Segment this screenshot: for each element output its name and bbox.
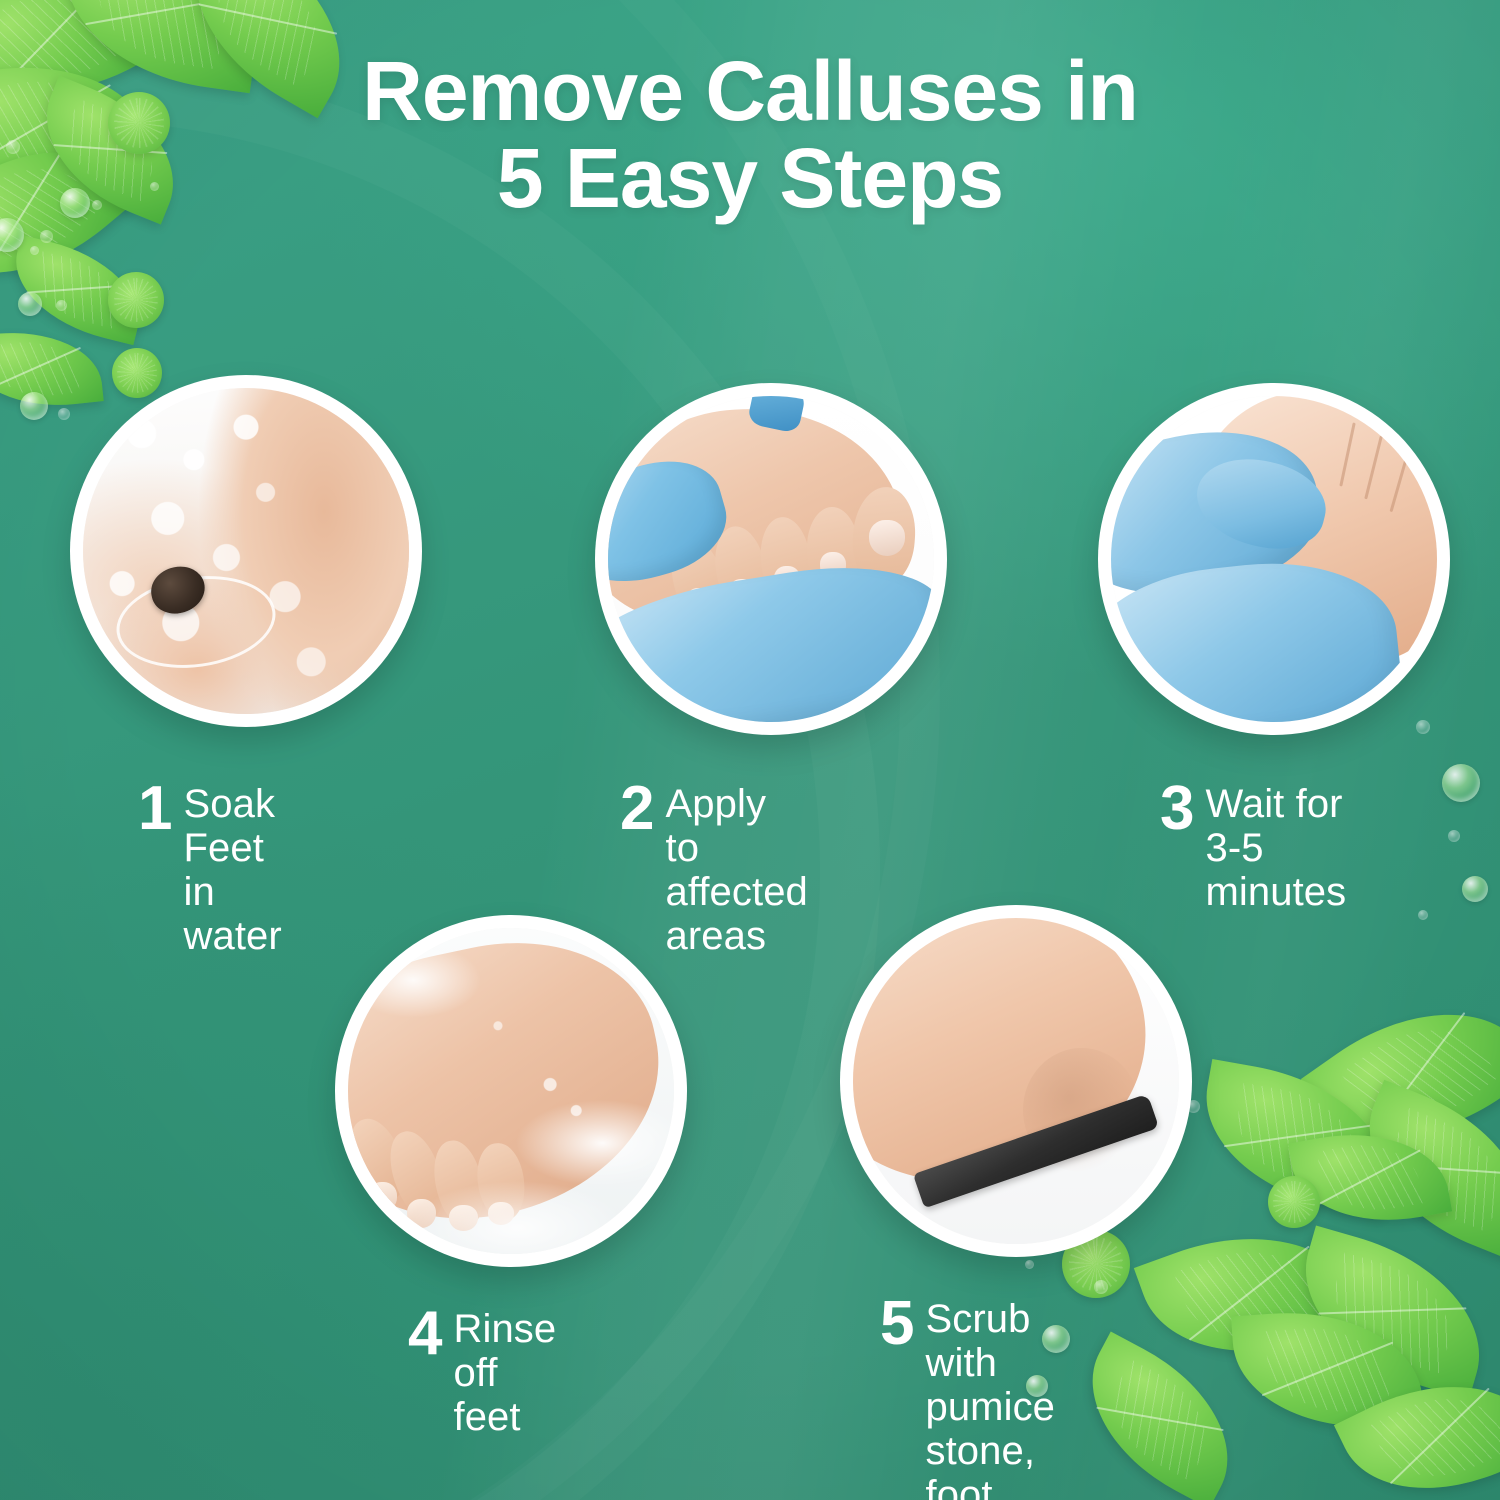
step-4-number: 4 — [408, 1305, 441, 1362]
step-3-photo — [1111, 396, 1437, 722]
step-1-label: Soak Feet in water — [183, 780, 281, 958]
page-title: Remove Calluses in 5 Easy Steps — [0, 48, 1500, 221]
step-4-label: Rinse off feet — [453, 1305, 556, 1439]
page-title-line-1: Remove Calluses in — [362, 44, 1138, 138]
steps-container: 1 Soak Feet in water — [0, 0, 1500, 1500]
step-1-image — [70, 375, 422, 727]
step-2-image — [595, 383, 947, 735]
step-1-photo — [83, 388, 409, 714]
step-4-image — [335, 915, 687, 1267]
step-4-caption: 4 Rinse off feet — [408, 1305, 556, 1439]
step-2-label: Apply to affected areas — [665, 780, 807, 958]
page-title-line-2: 5 Easy Steps — [0, 135, 1500, 222]
step-2-photo — [608, 396, 934, 722]
step-5-caption: 5 Scrub with pumice stone, foot file, or… — [880, 1295, 1055, 1500]
step-5-label: Scrub with pumice stone, foot file, or r… — [925, 1295, 1055, 1500]
step-3-label: Wait for 3-5 minutes — [1205, 780, 1346, 914]
step-5-image — [840, 905, 1192, 1257]
step-1-caption: 1 Soak Feet in water — [138, 780, 282, 958]
step-4-photo — [348, 928, 674, 1254]
step-3-image — [1098, 383, 1450, 735]
water-splash-icon — [348, 928, 674, 1254]
step-2-number: 2 — [620, 780, 653, 837]
step-5-number: 5 — [880, 1295, 913, 1352]
step-5-photo — [853, 918, 1179, 1244]
step-1-number: 1 — [138, 780, 171, 837]
step-3-caption: 3 Wait for 3-5 minutes — [1160, 780, 1346, 914]
step-3-number: 3 — [1160, 780, 1193, 837]
